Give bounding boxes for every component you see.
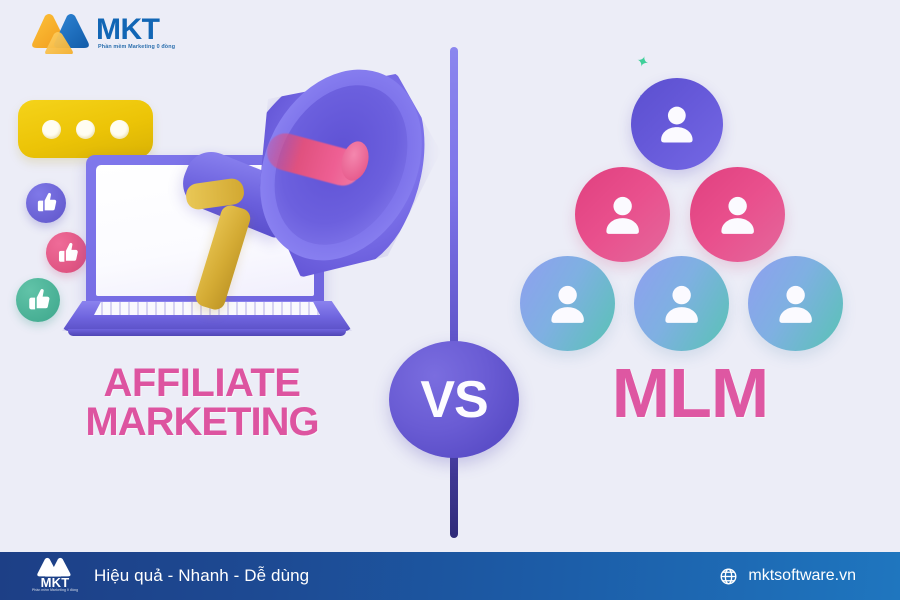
person-icon-level3-left [520, 256, 615, 351]
chat-dot [76, 120, 95, 139]
person-icon-level2-left [575, 167, 670, 262]
footer-slogan: Hiệu quả - Nhanh - Dễ dùng [94, 566, 309, 586]
megaphone-handle [193, 203, 252, 312]
vs-badge: VS [389, 341, 519, 458]
chat-dot [42, 120, 61, 139]
footer-logo[interactable]: MKT Phần mềm Marketing 0 đồng [32, 557, 78, 595]
vertical-divider [450, 47, 458, 538]
megaphone-icon [180, 55, 420, 345]
thumbs-up-icon-purple [26, 183, 66, 223]
chat-dot [110, 120, 129, 139]
footer-website-label: mktsoftware.vn [748, 567, 856, 585]
footer-logo-tagline: Phần mềm Marketing 0 đồng [32, 588, 78, 592]
globe-icon [719, 567, 738, 586]
person-icon-level1 [631, 78, 723, 170]
person-icon-level3-right [748, 256, 843, 351]
person-icon-level3-center [634, 256, 729, 351]
right-headline: MLM [520, 358, 860, 428]
person-icon-level2-right [690, 167, 785, 262]
footer-website[interactable]: mktsoftware.vn [719, 567, 856, 586]
mkt-triangles-logo-icon-footer [36, 557, 74, 577]
vs-label: VS [420, 370, 487, 430]
affiliate-marketing-illustration [0, 40, 440, 340]
left-headline: AFFILIATE MARKETING [32, 364, 372, 442]
thumbs-up-icon-teal [16, 278, 60, 322]
footer-bar: MKT Phần mềm Marketing 0 đồng Hiệu quả -… [0, 552, 900, 600]
mlm-pyramid-illustration: ✦ T [520, 55, 880, 345]
left-headline-line1: AFFILIATE [32, 364, 372, 403]
infographic-canvas: MKT Phần mềm Marketing 0 đồng [0, 0, 900, 600]
left-headline-line2: MARKETING [32, 403, 372, 442]
chat-bubble-icon [18, 100, 153, 158]
sparkle-icon: ✦ [634, 53, 652, 73]
